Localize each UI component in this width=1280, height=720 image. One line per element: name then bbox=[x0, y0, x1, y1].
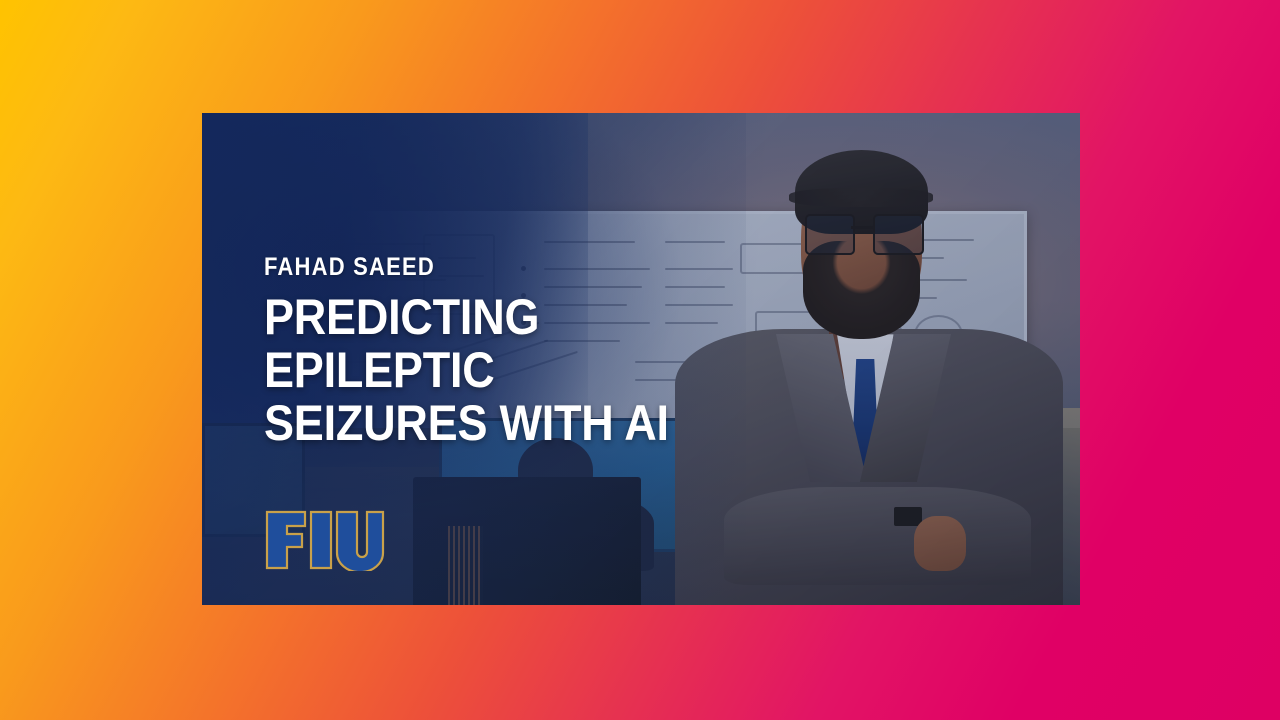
headline-line-2: EPILEPTIC bbox=[264, 344, 750, 397]
fiu-logo bbox=[264, 509, 386, 571]
title-block: FAHAD SAEED PREDICTING EPILEPTIC SEIZURE… bbox=[264, 253, 804, 450]
slide-canvas: FAHAD SAEED PREDICTING EPILEPTIC SEIZURE… bbox=[0, 0, 1280, 720]
video-slide[interactable]: FAHAD SAEED PREDICTING EPILEPTIC SEIZURE… bbox=[202, 113, 1080, 605]
headline-line-1: PREDICTING bbox=[264, 291, 750, 344]
headline-line-3: SEIZURES WITH AI bbox=[264, 397, 750, 450]
speaker-name: FAHAD SAEED bbox=[264, 253, 739, 282]
